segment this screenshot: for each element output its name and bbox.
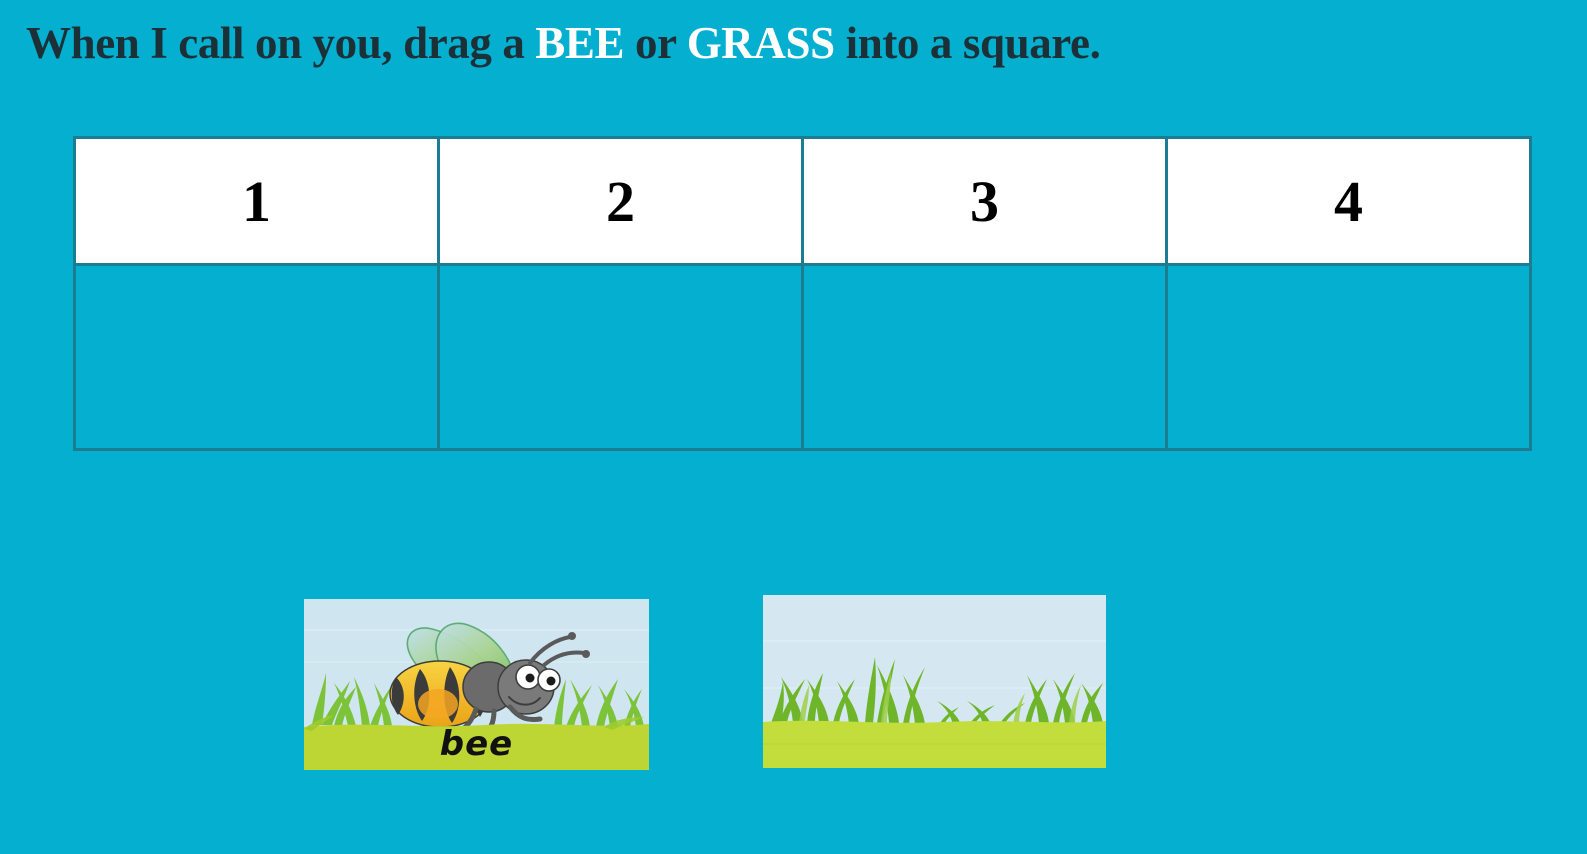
bee-illustration [304,599,649,770]
drop-zone-4[interactable] [1167,265,1531,450]
column-header-2: 2 [439,138,803,265]
page-title: When I call on you, drag a BEE or GRASS … [26,18,1100,70]
column-header-1: 1 [75,138,439,265]
draggable-card-bee[interactable]: bee [304,599,649,770]
column-header-3: 3 [803,138,1167,265]
grass-illustration [763,595,1106,768]
drop-zone-2[interactable] [439,265,803,450]
title-segment-2: or [624,18,687,68]
table-header-row: 1 2 3 4 [75,138,1531,265]
column-header-4: 4 [1167,138,1531,265]
title-segment-0: When I call on you, drag a [26,18,535,68]
drop-table: 1 2 3 4 [73,136,1532,451]
title-highlight-grass: GRASS [687,18,835,68]
table-drop-row [75,265,1531,450]
title-highlight-bee: BEE [535,18,624,68]
drop-zone-3[interactable] [803,265,1167,450]
draggable-card-grass[interactable] [763,595,1106,768]
title-segment-4: into a square. [835,18,1101,68]
drop-zone-1[interactable] [75,265,439,450]
